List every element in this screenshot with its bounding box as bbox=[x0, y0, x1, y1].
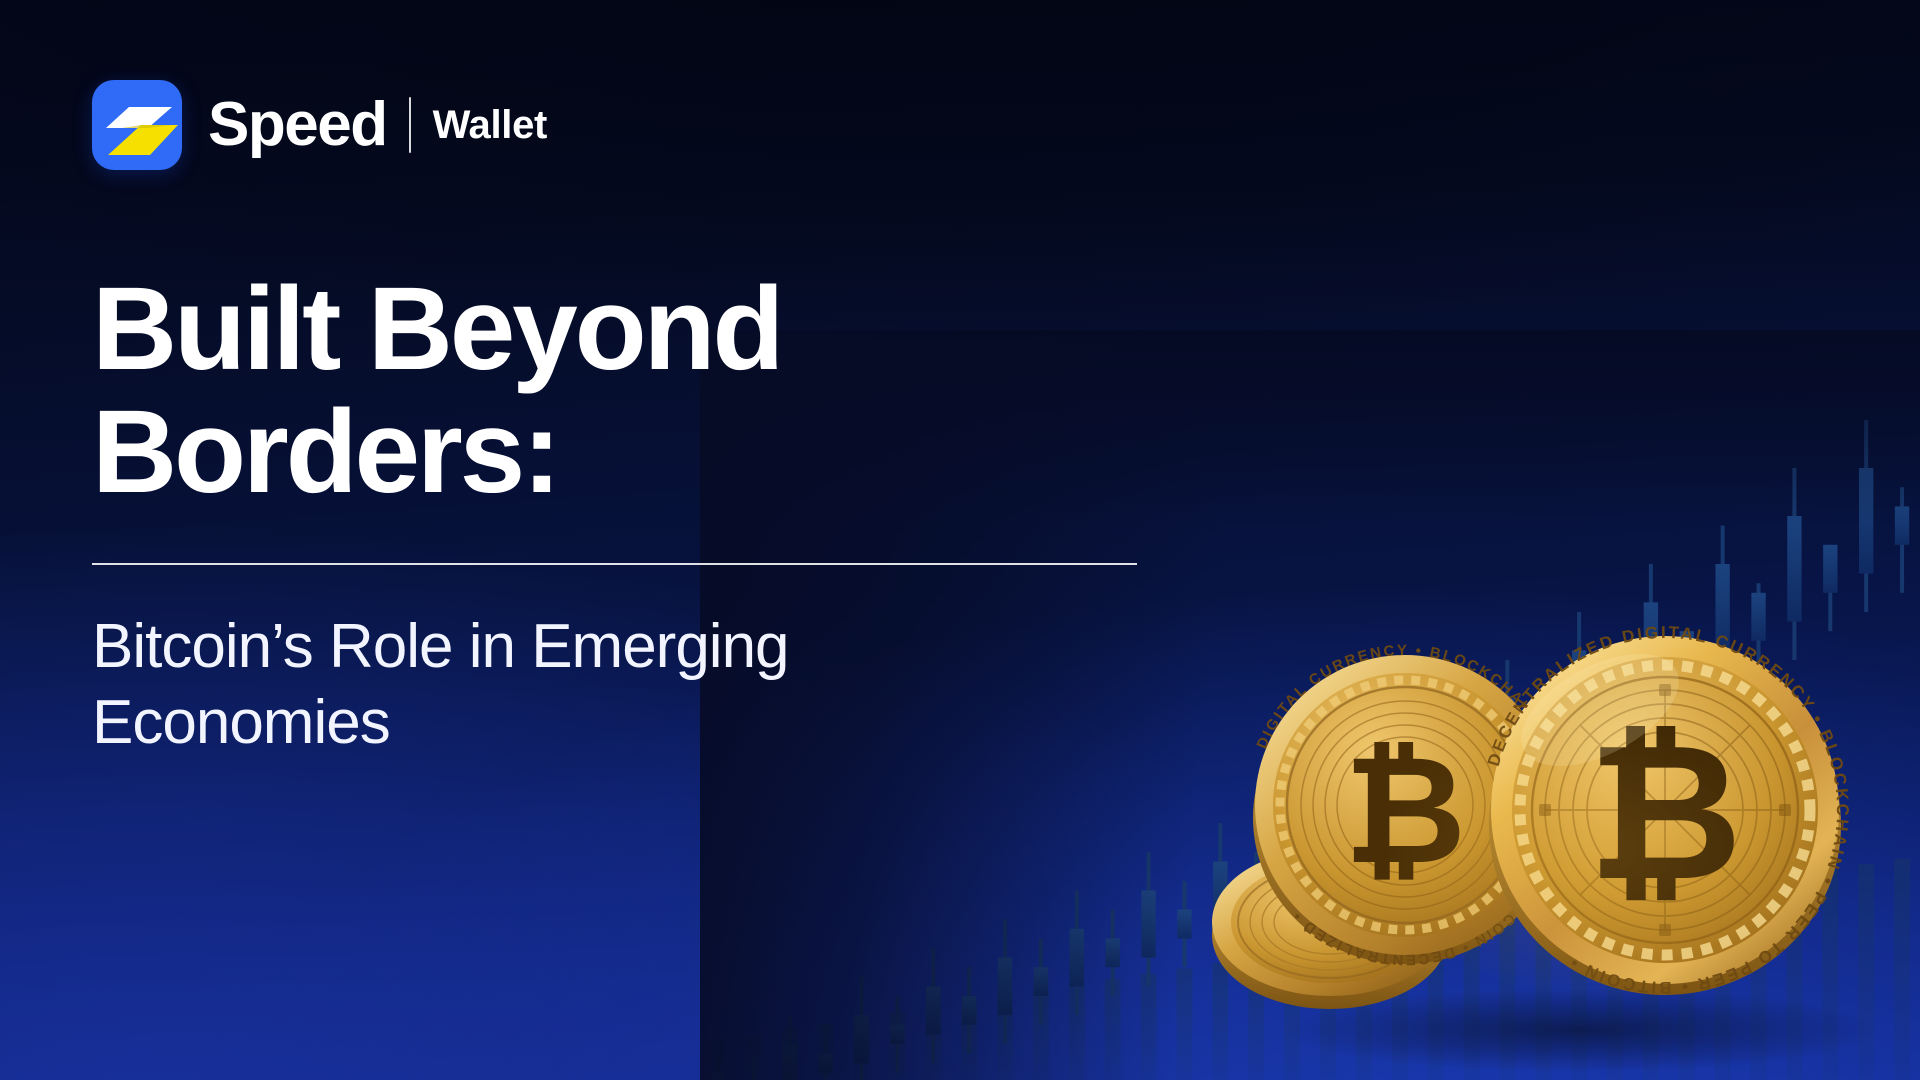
speed-lightning-logo-icon[interactable] bbox=[92, 80, 182, 170]
coin-front-main: DECENTRALIZED DIGITAL CURRENCY • BLOCKCH… bbox=[1484, 623, 1852, 997]
brand-text: Speed Wallet bbox=[208, 94, 547, 156]
brand-name: Speed bbox=[208, 94, 387, 156]
page-title: Built Beyond Borders: bbox=[92, 268, 1152, 513]
brand-lockup[interactable]: Speed Wallet bbox=[92, 80, 547, 170]
title-divider bbox=[92, 563, 1137, 565]
hero-banner: Speed Wallet Built Beyond Borders: Bitco… bbox=[0, 0, 1920, 1080]
bitcoin-coins-illustration: ₿ DIGITAL CURRENCY • BLOCKCHAIN bbox=[1210, 600, 1920, 1070]
brand-divider bbox=[409, 97, 411, 153]
hero-copy: Built Beyond Borders: Bitcoin’s Role in … bbox=[92, 268, 1152, 761]
brand-product-name: Wallet bbox=[433, 105, 548, 145]
svg-text:₿: ₿ bbox=[1344, 726, 1466, 894]
page-subtitle: Bitcoin’s Role in Emerging Economies bbox=[92, 609, 1152, 760]
